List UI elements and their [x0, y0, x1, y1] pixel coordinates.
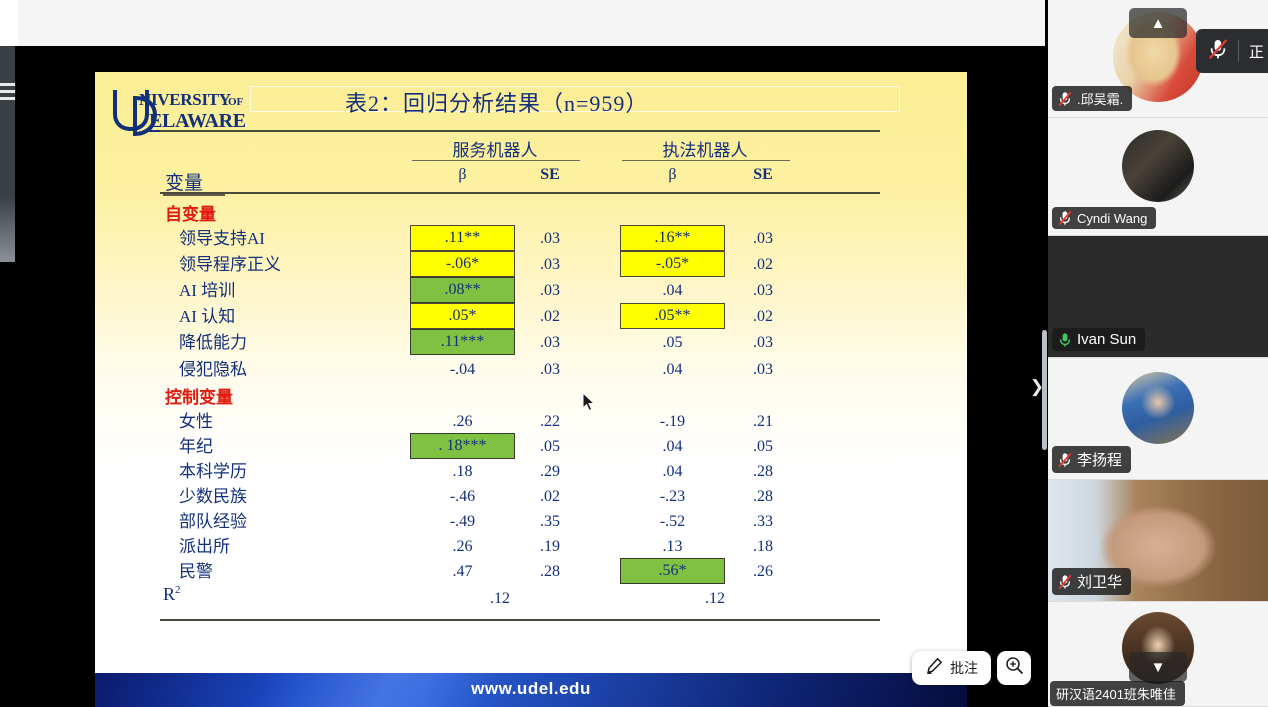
cell-beta-enforcement: .04	[620, 434, 725, 459]
table-row: 派出所 .26 .19 .13 .18	[95, 534, 967, 559]
participant-rail-scrollbar[interactable]	[1042, 330, 1047, 450]
top-strip-left-gap	[0, 0, 18, 46]
participant-name-chip: 刘卫华	[1052, 568, 1131, 595]
table-row: AI 认知 .05* .02 .05** .02	[95, 304, 967, 329]
mic-muted-icon	[1058, 210, 1072, 226]
group-rule-1	[412, 160, 580, 161]
participant-tile[interactable]: Ivan Sun	[1048, 236, 1268, 358]
cell-se-service: .03	[520, 278, 580, 303]
cell-beta-enforcement: .05**	[620, 303, 725, 329]
cell-beta-service: -.46	[410, 484, 515, 509]
mic-muted-icon	[1058, 91, 1072, 107]
row-label: 民警	[179, 559, 213, 584]
variable-header-underline	[163, 194, 225, 196]
tooltip-text: 正	[1249, 41, 1264, 62]
participant-tile[interactable]: 刘卫华	[1048, 480, 1268, 602]
mute-status-tooltip: 正	[1196, 29, 1268, 73]
section-header-control-variables: 控制变量	[165, 383, 233, 408]
cell-beta-service: .11***	[410, 329, 515, 355]
cell-beta-service: .47	[410, 559, 515, 584]
participant-name-chip: Ivan Sun	[1052, 328, 1145, 351]
cell-beta-service: -.49	[410, 509, 515, 534]
handle-fade	[0, 196, 15, 262]
zoom-in-button[interactable]	[997, 651, 1031, 685]
zoom-meeting-screen: NIVERSITY OF ELAWARE 表2：回归分析结果（n=959） 服务…	[0, 0, 1268, 707]
handle-bar-3	[0, 97, 15, 100]
cell-se-enforcement: .03	[733, 226, 793, 251]
cell-se-service: .28	[520, 559, 580, 584]
row-label: 降低能力	[179, 330, 247, 355]
table-bottom-rule	[160, 619, 880, 621]
r-squared-value-enforcement: .12	[675, 588, 755, 610]
r-squared-value-service: .12	[460, 588, 540, 610]
cell-se-service: .03	[520, 226, 580, 251]
group-header-enforcement-robot: 执法机器人	[620, 136, 790, 161]
row-label: 年纪	[179, 434, 213, 459]
table-row: 民警 .47 .28 .56* .26	[95, 559, 967, 584]
mic-muted-icon	[1058, 574, 1072, 590]
pen-icon	[925, 657, 943, 680]
table-row: AI 培训 .08** .03 .04 .03	[95, 278, 967, 303]
cell-se-enforcement: .33	[733, 509, 793, 534]
participant-rail: ▲ .邱吴霜.	[1048, 0, 1268, 707]
table-row: 降低能力 .11*** .03 .05 .03	[95, 330, 967, 355]
handle-bar-1	[0, 83, 15, 86]
table-row: 本科学历 .18 .29 .04 .28	[95, 459, 967, 484]
cell-beta-service: .26	[410, 534, 515, 559]
shared-screen-stage: NIVERSITY OF ELAWARE 表2：回归分析结果（n=959） 服务…	[15, 46, 1045, 707]
cell-se-enforcement: .03	[733, 330, 793, 355]
cell-beta-enforcement: .05	[620, 330, 725, 355]
table-header-rule	[160, 192, 880, 194]
table-row: 少数民族 -.46 .02 -.23 .28	[95, 484, 967, 509]
column-header-beta-1: β	[410, 166, 515, 184]
scroll-down-button[interactable]: ▼	[1129, 652, 1187, 682]
top-strip	[0, 0, 1045, 46]
cell-se-service: .05	[520, 434, 580, 459]
cell-se-service: .03	[520, 357, 580, 382]
column-header-se-1: SE	[520, 166, 580, 184]
participant-tile[interactable]: 李扬程	[1048, 358, 1268, 480]
cell-beta-service: -.04	[410, 357, 515, 382]
svg-text:ELAWARE: ELAWARE	[149, 110, 246, 132]
table-top-rule	[160, 130, 880, 132]
annotate-label: 批注	[950, 658, 978, 678]
magnifier-plus-icon	[1005, 656, 1024, 680]
participant-name: 刘卫华	[1077, 571, 1122, 592]
slide-title: 表2：回归分析结果（n=959）	[345, 86, 955, 116]
presentation-slide: NIVERSITY OF ELAWARE 表2：回归分析结果（n=959） 服务…	[95, 72, 967, 707]
cell-beta-enforcement: .04	[620, 357, 725, 382]
participant-name: 李扬程	[1077, 449, 1122, 470]
cell-beta-service: -.06*	[410, 251, 515, 277]
handle-bar-2	[0, 90, 15, 93]
participant-name-chip: Cyndi Wang	[1052, 207, 1156, 229]
participant-name-chip: 李扬程	[1052, 446, 1131, 473]
cell-beta-service: .26	[410, 409, 515, 434]
cell-se-enforcement: .03	[733, 357, 793, 382]
cell-se-enforcement: .02	[733, 252, 793, 277]
participant-name: Cyndi Wang	[1077, 211, 1147, 226]
cell-beta-enforcement: .13	[620, 534, 725, 559]
cell-se-service: .29	[520, 459, 580, 484]
table-row: 领导程序正义 -.06* .03 -.05* .02	[95, 252, 967, 277]
row-label: AI 认知	[179, 304, 235, 329]
table-row: 领导支持AI .11** .03 .16** .03	[95, 226, 967, 251]
slide-footer-bar: www.udel.edu	[95, 673, 967, 707]
cell-beta-service: .11**	[410, 225, 515, 251]
row-label: 本科学历	[179, 459, 247, 484]
row-label: 领导支持AI	[179, 226, 265, 251]
left-panel-handle[interactable]	[0, 46, 15, 216]
participant-tile[interactable]: ▼ 研汉语2401班朱唯佳	[1048, 602, 1268, 707]
mic-muted-icon	[1208, 38, 1228, 65]
cell-beta-enforcement: .04	[620, 278, 725, 303]
svg-text:NIVERSITY: NIVERSITY	[139, 90, 231, 109]
cell-se-enforcement: .18	[733, 534, 793, 559]
table-row: 侵犯隐私 -.04 .03 .04 .03	[95, 357, 967, 382]
participant-name: 研汉语2401班朱唯佳	[1056, 684, 1176, 703]
row-label: 领导程序正义	[179, 252, 281, 277]
tooltip-divider	[1238, 40, 1239, 62]
group-rule-2	[622, 160, 790, 161]
cell-beta-service: .18	[410, 459, 515, 484]
row-label: 部队经验	[179, 509, 247, 534]
row-label: AI 培训	[179, 278, 235, 303]
cell-beta-enforcement: -.05*	[620, 251, 725, 277]
cell-beta-enforcement: .56*	[620, 558, 725, 584]
row-label: 侵犯隐私	[179, 357, 247, 382]
cell-beta-enforcement: -.23	[620, 484, 725, 509]
cell-se-service: .35	[520, 509, 580, 534]
cell-se-service: .03	[520, 330, 580, 355]
row-label: 少数民族	[179, 484, 247, 509]
participant-name-chip: .邱吴霜.	[1052, 86, 1132, 111]
row-label: 女性	[179, 409, 213, 434]
participant-tile[interactable]: Cyndi Wang	[1048, 118, 1268, 236]
column-header-variable: 变量	[165, 168, 203, 195]
cell-beta-service: .08**	[410, 277, 515, 303]
cell-se-enforcement: .28	[733, 484, 793, 509]
cell-beta-enforcement: .16**	[620, 225, 725, 251]
cell-se-service: .19	[520, 534, 580, 559]
cell-se-service: .02	[520, 304, 580, 329]
group-header-service-robot: 服务机器人	[410, 136, 580, 161]
participant-name-chip: 研汉语2401班朱唯佳	[1050, 681, 1185, 706]
cell-se-enforcement: .05	[733, 434, 793, 459]
cell-se-service: .02	[520, 484, 580, 509]
table-row: 部队经验 -.49 .35 -.52 .33	[95, 509, 967, 534]
cell-beta-service: .05*	[410, 303, 515, 329]
row-label: 派出所	[179, 534, 230, 559]
scroll-up-button[interactable]: ▲	[1129, 8, 1187, 38]
cell-se-enforcement: .28	[733, 459, 793, 484]
r-squared-row: R2 .12 .12	[95, 584, 967, 614]
svg-text:OF: OF	[228, 96, 244, 108]
table-row: 年纪 . 18*** .05 .04 .05	[95, 434, 967, 459]
section-header-independent-variables: 自变量	[165, 200, 216, 225]
cell-beta-enforcement: -.52	[620, 509, 725, 534]
annotation-toolbar: 批注	[912, 651, 1031, 685]
cell-se-enforcement: .03	[733, 278, 793, 303]
cell-beta-service: . 18***	[410, 433, 515, 459]
cell-beta-enforcement: .04	[620, 459, 725, 484]
mic-active-icon	[1058, 332, 1072, 348]
cell-se-service: .22	[520, 409, 580, 434]
participant-name: .邱吴霜.	[1077, 89, 1123, 108]
column-header-beta-2: β	[620, 166, 725, 184]
r-squared-label: R2	[163, 584, 181, 605]
table-row: 女性 .26 .22 -.19 .21	[95, 409, 967, 434]
cell-se-service: .03	[520, 252, 580, 277]
column-header-se-2: SE	[733, 166, 793, 184]
annotate-button[interactable]: 批注	[912, 651, 991, 685]
cell-se-enforcement: .26	[733, 559, 793, 584]
mic-muted-icon	[1058, 452, 1072, 468]
avatar	[1122, 372, 1194, 444]
participant-name: Ivan Sun	[1077, 331, 1136, 348]
cell-beta-enforcement: -.19	[620, 409, 725, 434]
avatar	[1122, 130, 1194, 202]
cell-se-enforcement: .21	[733, 409, 793, 434]
footer-url: www.udel.edu	[95, 679, 967, 699]
cell-se-enforcement: .02	[733, 304, 793, 329]
